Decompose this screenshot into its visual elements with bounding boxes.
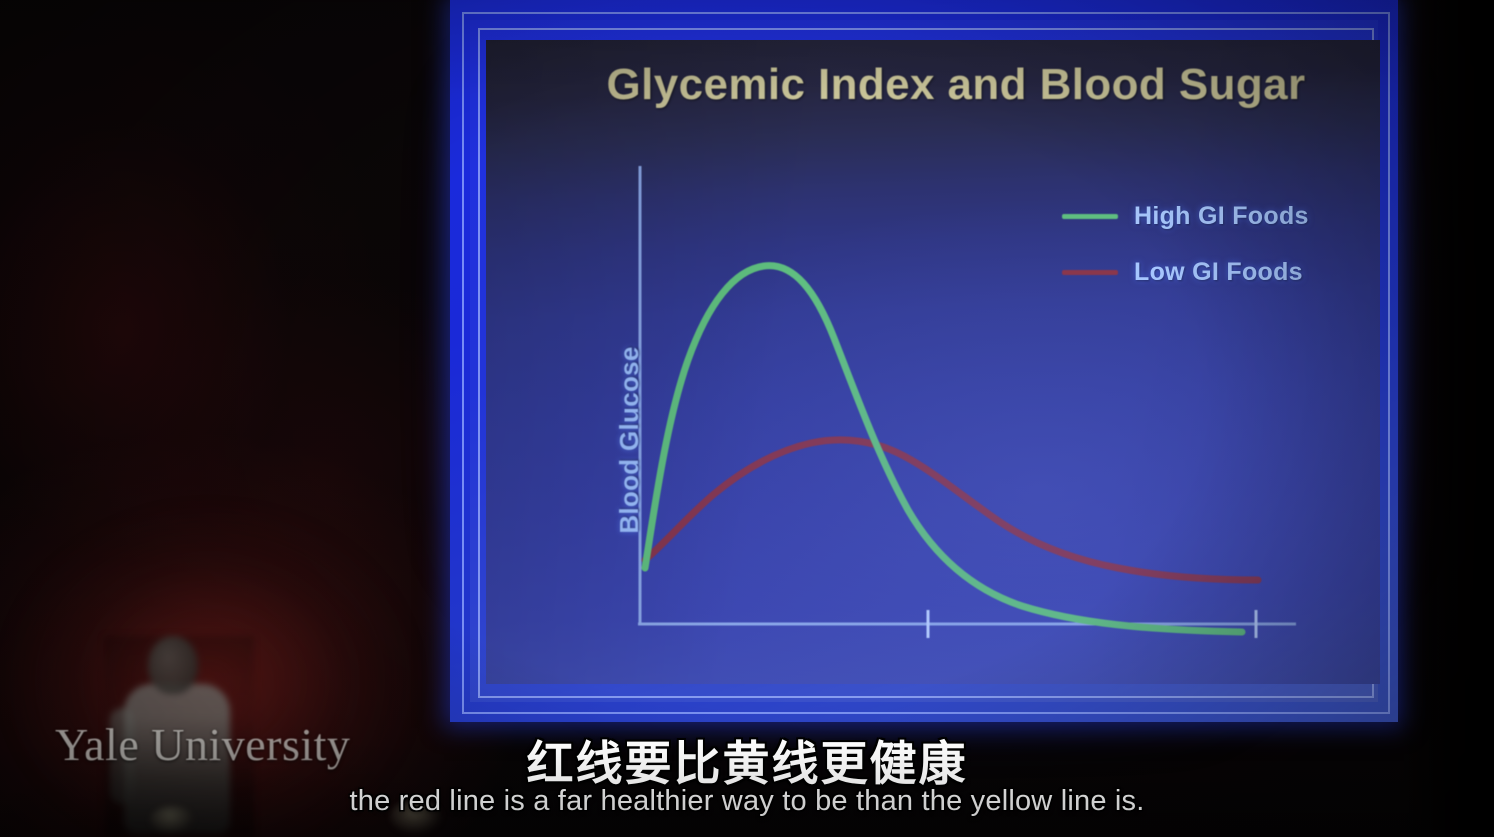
legend-item-high-gi: High GI Foods (1062, 195, 1362, 237)
presentation-slide: Glycemic Index and Blood Sugar Blood Glu… (486, 40, 1380, 684)
stage-object (150, 806, 194, 834)
curve-low-gi (645, 440, 1258, 580)
stage-object-secondary (390, 800, 442, 834)
video-frame: Glycemic Index and Blood Sugar Blood Glu… (0, 0, 1494, 837)
chart-legend: High GI Foods Low GI Foods (1062, 195, 1362, 307)
slide-title: Glycemic Index and Blood Sugar (486, 60, 1380, 110)
yale-university-watermark: Yale University (55, 718, 350, 771)
legend-label-low-gi: Low GI Foods (1134, 258, 1303, 287)
legend-swatch-high-gi (1062, 214, 1118, 219)
legend-label-high-gi: High GI Foods (1134, 202, 1309, 231)
legend-swatch-low-gi (1062, 270, 1118, 275)
y-axis-label: Blood Glucose (614, 310, 645, 570)
legend-item-low-gi: Low GI Foods (1062, 251, 1362, 293)
projection-screen: Glycemic Index and Blood Sugar Blood Glu… (444, 0, 1410, 734)
